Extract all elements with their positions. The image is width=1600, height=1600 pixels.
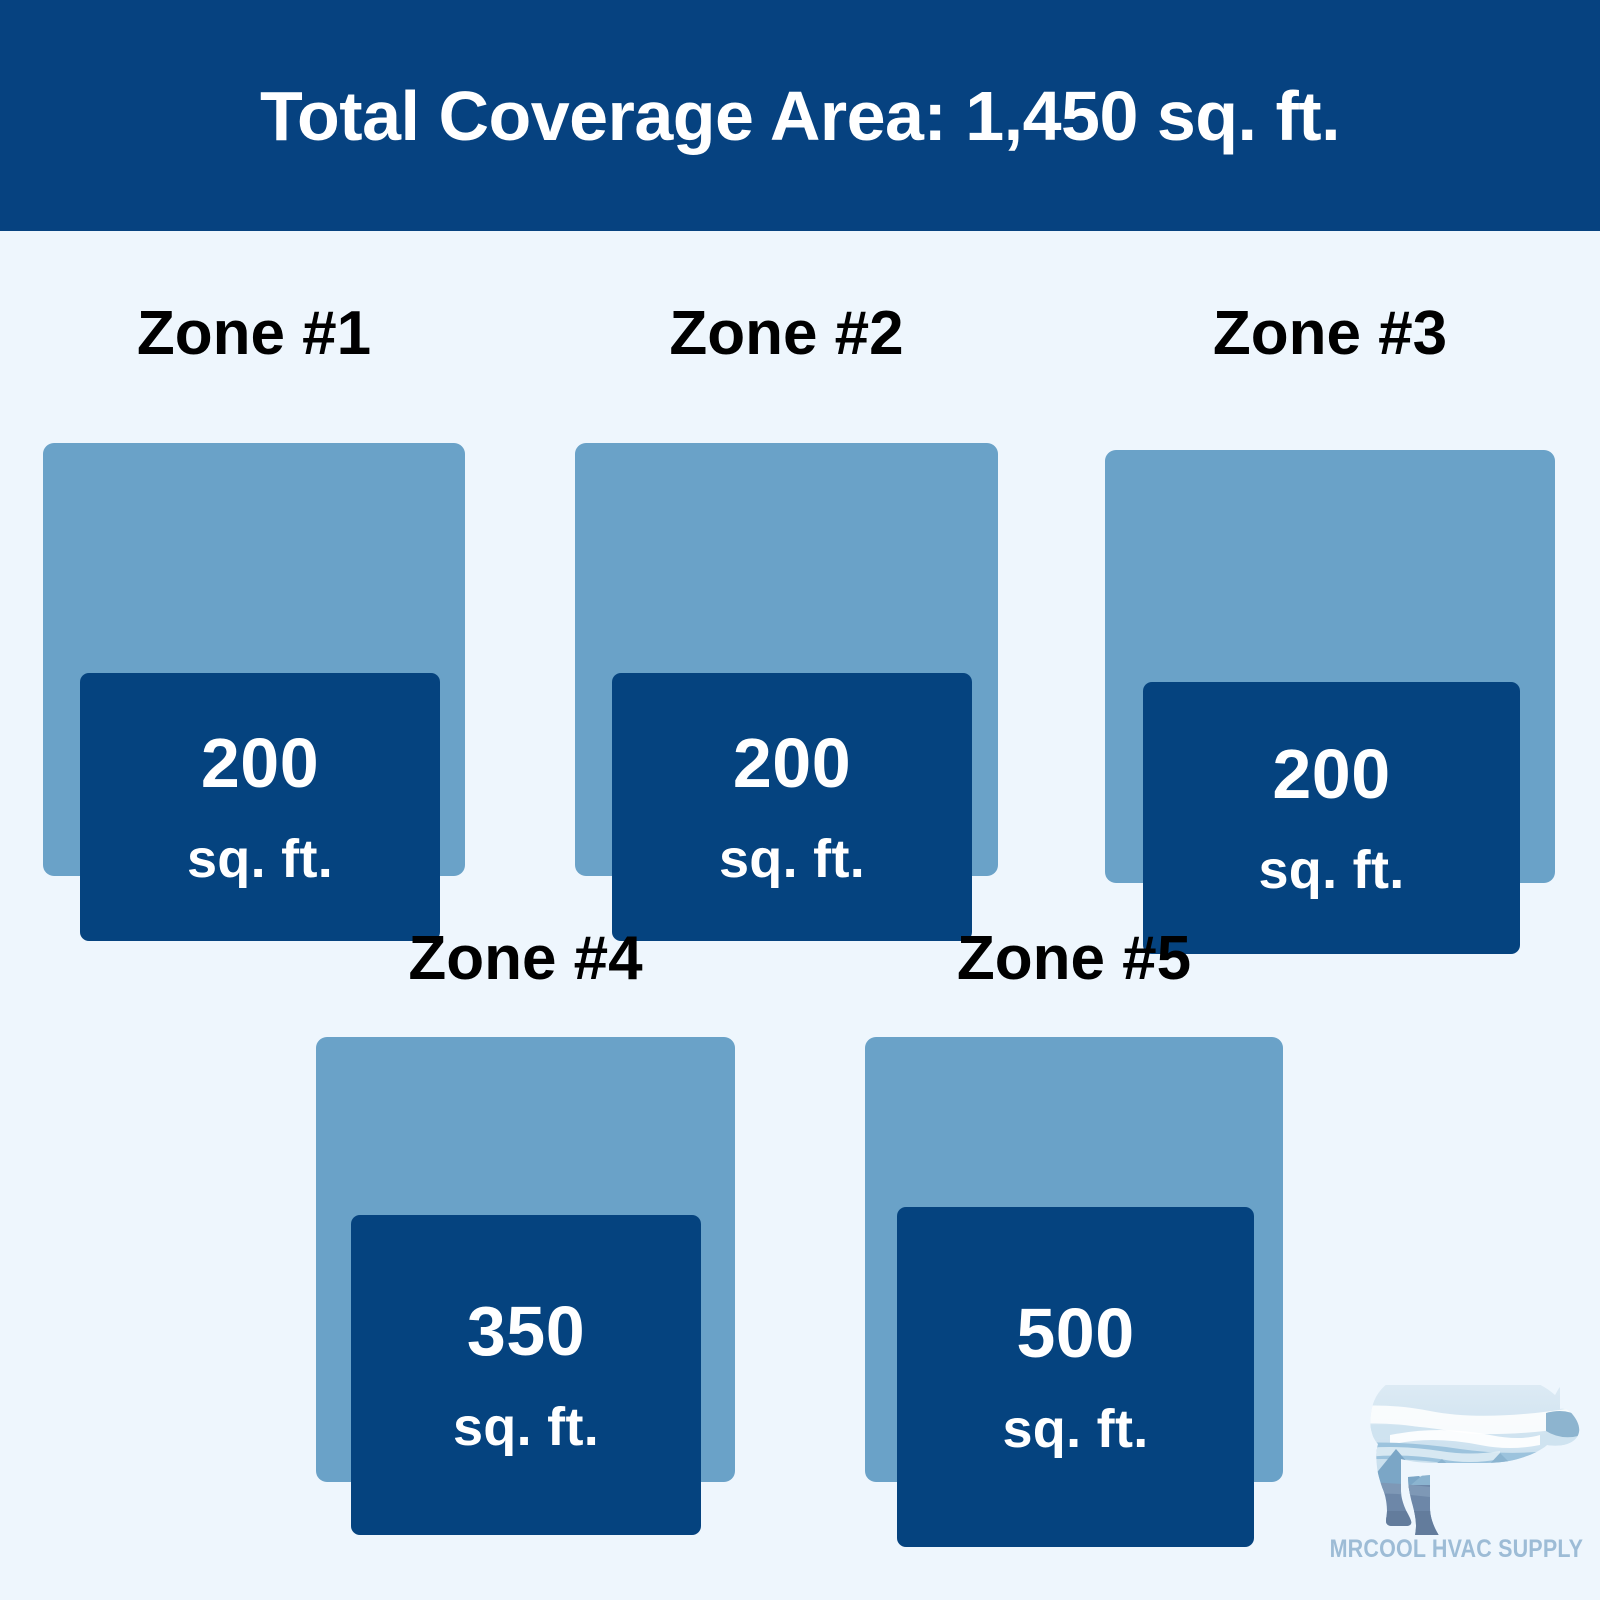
zone-unit-3: sq. ft.: [1258, 843, 1404, 897]
zone-unit-5: sq. ft.: [1002, 1402, 1148, 1456]
logo-wordmark: MRCOOL HVAC SUPPLY: [1330, 1537, 1571, 1562]
zone-inner-area-1: 200 sq. ft.: [80, 673, 440, 941]
zone-outer-area-4: 350 sq. ft.: [316, 1037, 735, 1482]
polar-bear-icon: [1310, 1385, 1590, 1535]
zone-value-3: 200: [1272, 739, 1390, 809]
brand-logo: MRCOOL HVAC SUPPLY: [1310, 1385, 1590, 1585]
zone-label-2: Zone #2: [575, 303, 998, 365]
zone-outer-area-3: 200 sq. ft.: [1105, 450, 1555, 883]
zone-value-1: 200: [201, 728, 319, 798]
zone-unit-4: sq. ft.: [453, 1400, 599, 1454]
page-title: Total Coverage Area: 1,450 sq. ft.: [260, 81, 1340, 151]
header-banner: Total Coverage Area: 1,450 sq. ft.: [0, 0, 1600, 231]
zone-inner-area-5: 500 sq. ft.: [897, 1207, 1254, 1547]
zone-value-2: 200: [733, 728, 851, 798]
zone-unit-2: sq. ft.: [719, 832, 865, 886]
zone-inner-area-4: 350 sq. ft.: [351, 1215, 701, 1535]
zone-value-4: 350: [467, 1296, 585, 1366]
zone-value-5: 500: [1016, 1298, 1134, 1368]
zone-inner-area-3: 200 sq. ft.: [1143, 682, 1520, 954]
zone-outer-area-5: 500 sq. ft.: [865, 1037, 1283, 1482]
zone-label-4: Zone #4: [316, 928, 735, 990]
zone-outer-area-1: 200 sq. ft.: [43, 443, 465, 876]
zone-label-3: Zone #3: [1105, 303, 1555, 365]
zone-outer-area-2: 200 sq. ft.: [575, 443, 998, 876]
zone-label-5: Zone #5: [865, 928, 1283, 990]
zone-label-1: Zone #1: [43, 303, 465, 365]
zone-unit-1: sq. ft.: [187, 832, 333, 886]
zone-inner-area-2: 200 sq. ft.: [612, 673, 972, 941]
